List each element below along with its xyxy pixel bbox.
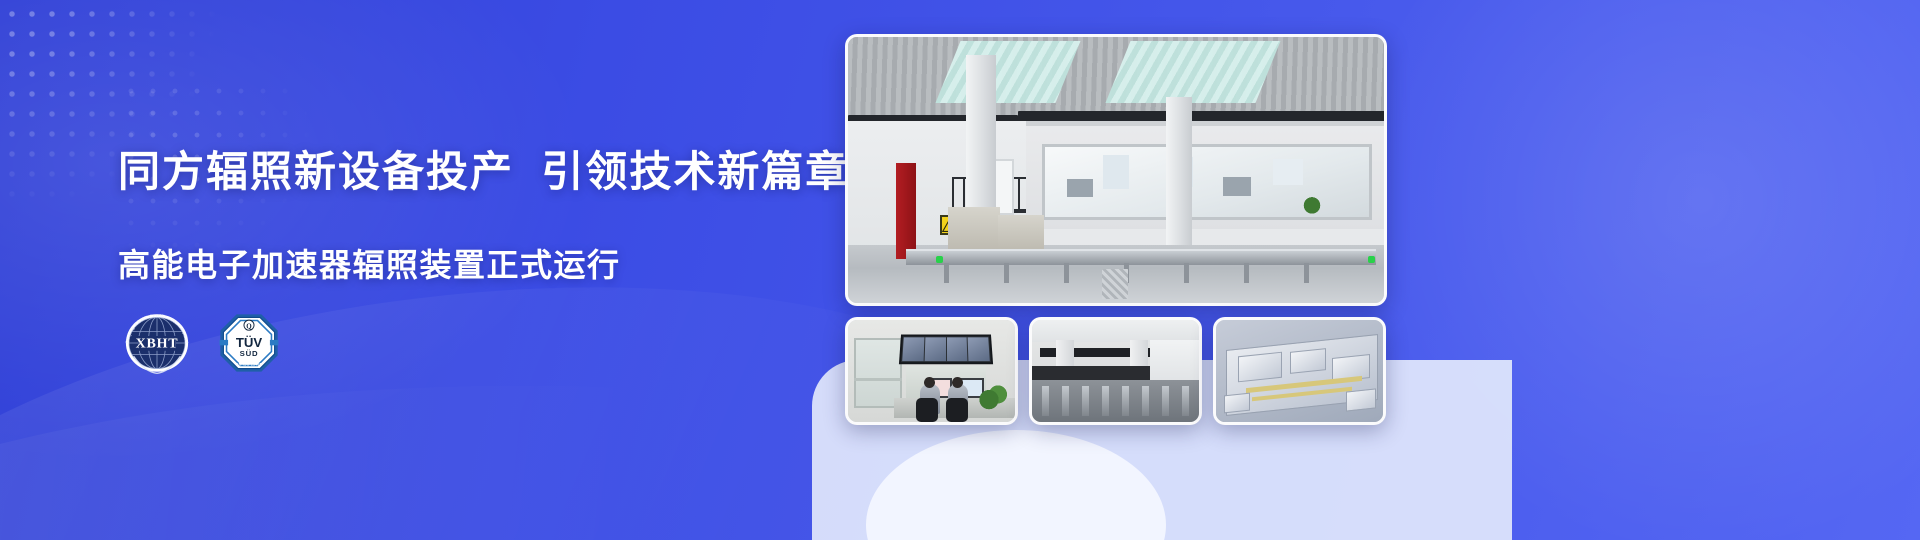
- render-equipment: [1238, 352, 1282, 383]
- gallery-thumbnails: [845, 317, 1387, 425]
- xbht-certification-logo: XBHT Beijing XBHT Certification Co., Ltd: [118, 308, 196, 378]
- fire-equipment-panel: [896, 163, 916, 259]
- office-chair: [946, 398, 968, 422]
- irradiation-facility-hall-photo[interactable]: [845, 34, 1387, 306]
- svg-text:EN ISO 13485: EN ISO 13485: [236, 362, 262, 366]
- tuv-sud-logo: Q TÜV SÜD EN ISO 13485: [218, 312, 280, 374]
- facility-3d-render-photo[interactable]: [1213, 317, 1386, 425]
- promo-banner: 同方辐照新设备投产 引领技术新篇章 高能电子加速器辐照装置正式运行: [0, 0, 1920, 540]
- svg-text:TÜV: TÜV: [236, 335, 263, 350]
- render-equipment: [1224, 393, 1250, 414]
- skylight: [935, 41, 1080, 103]
- page-title: 同方辐照新设备投产 引领技术新篇章: [118, 148, 878, 196]
- svg-text:SÜD: SÜD: [240, 349, 259, 358]
- wrapped-pallet: [998, 215, 1044, 251]
- roller-conveyor: [1032, 380, 1199, 422]
- office-chair: [916, 398, 938, 422]
- operator-head: [952, 377, 963, 388]
- potted-plant: [977, 384, 1007, 410]
- skylight: [1105, 41, 1280, 103]
- render-equipment: [1346, 388, 1376, 411]
- conveyor-system-photo[interactable]: [1029, 317, 1202, 425]
- hall-scene: [848, 37, 1384, 303]
- operator-head: [924, 377, 935, 388]
- control-room-scene: [848, 320, 1015, 422]
- photo-gallery: [845, 34, 1387, 426]
- svg-text:Q: Q: [246, 322, 252, 330]
- observation-window: [1042, 144, 1372, 220]
- wrapped-pallet: [948, 207, 1000, 251]
- page-subtitle: 高能电子加速器辐照装置正式运行: [118, 240, 878, 286]
- certification-logos: XBHT Beijing XBHT Certification Co., Ltd…: [118, 308, 280, 378]
- facility-render-scene: [1216, 320, 1383, 422]
- control-room-photo[interactable]: [845, 317, 1018, 425]
- svg-text:XBHT: XBHT: [136, 337, 179, 352]
- conveyor-scene: [1032, 320, 1199, 422]
- monitor-wall: [899, 334, 993, 364]
- render-equipment: [1290, 348, 1326, 374]
- banner-copy: 同方辐照新设备投产 引领技术新篇章 高能电子加速器辐照装置正式运行: [118, 148, 878, 286]
